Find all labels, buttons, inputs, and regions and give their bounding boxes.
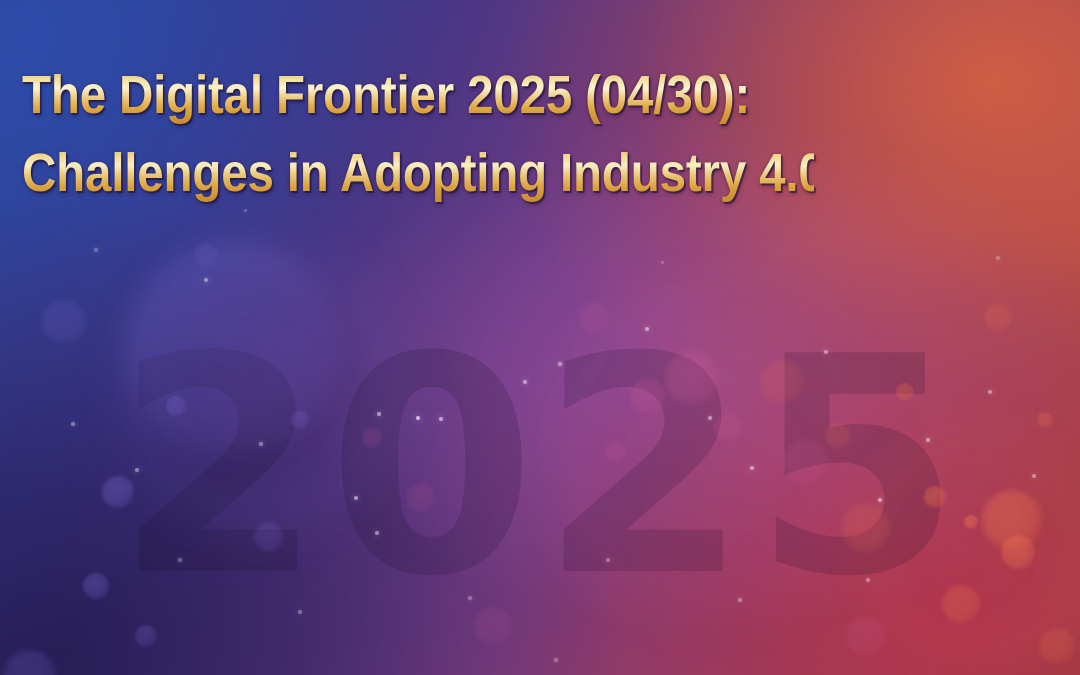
bokeh-circle-cool: [194, 244, 218, 268]
bokeh-circle-warm: [982, 490, 1042, 550]
bokeh-spark: [94, 248, 97, 251]
bokeh-ring: [548, 288, 880, 620]
bokeh-spark: [558, 362, 561, 365]
bokeh-spark: [377, 412, 381, 416]
bokeh-spark: [824, 350, 828, 354]
bokeh-spark: [354, 496, 358, 500]
bokeh-spark: [178, 558, 181, 561]
bokeh-spark: [135, 468, 138, 471]
bokeh-circle-warm: [924, 486, 946, 508]
bokeh-ring: [860, 428, 1080, 664]
bokeh-circle-pink: [605, 441, 627, 463]
bokeh-circle-pink: [578, 302, 610, 334]
bokeh-circle-warm: [984, 304, 1012, 332]
slide-title-line-2: Challenges in Adopting Industry 4.0: [22, 134, 814, 212]
bokeh-spark: [606, 558, 610, 562]
bokeh-circle-warm: [1039, 628, 1075, 664]
bokeh-spark: [1032, 474, 1036, 478]
bokeh-circle-cool: [4, 650, 56, 675]
bokeh-circle-pink: [474, 607, 512, 645]
bokeh-circle-warm: [760, 360, 804, 404]
bokeh-circle-pink: [362, 428, 382, 448]
bokeh-spark: [259, 442, 262, 445]
bokeh-circle-warm: [842, 504, 890, 552]
bokeh-spark: [708, 416, 711, 419]
bokeh-circle-pink: [846, 616, 886, 656]
bokeh-spark: [375, 531, 379, 535]
slide-title-line-1: The Digital Frontier 2025 (04/30):: [22, 56, 814, 134]
bokeh-spark: [523, 380, 527, 384]
bokeh-spark: [298, 610, 301, 613]
bokeh-circle-pink: [714, 414, 742, 442]
bokeh-spark: [645, 327, 649, 331]
bokeh-circle-cool: [124, 240, 340, 456]
bokeh-spark: [988, 390, 992, 394]
bokeh-circle-cool: [166, 396, 186, 416]
bokeh-circle-cool: [83, 573, 109, 599]
presentation-slide: 2025 The Digital Frontier 2025 (04/30): …: [0, 0, 1080, 675]
bokeh-circle-warm: [825, 423, 851, 449]
bokeh-circle-pink: [630, 378, 666, 414]
bokeh-spark: [878, 498, 882, 502]
slide-title-block: The Digital Frontier 2025 (04/30): Chall…: [22, 56, 922, 212]
bokeh-spark: [204, 278, 208, 282]
bokeh-spark: [416, 416, 421, 421]
bokeh-spark: [738, 598, 741, 601]
bokeh-spark: [468, 596, 471, 599]
bokeh-ring: [120, 244, 404, 528]
bokeh-spark: [996, 256, 999, 259]
bokeh-spark: [71, 422, 75, 426]
bokeh-spark: [750, 466, 754, 470]
bokeh-circle-warm: [1001, 535, 1035, 569]
bokeh-circle-warm: [964, 515, 978, 529]
bokeh-circle-cool: [135, 625, 157, 647]
bokeh-circle-cool: [102, 476, 134, 508]
bokeh-circle-pink: [406, 483, 436, 513]
bokeh-circle-warm: [1037, 412, 1053, 428]
bokeh-spark: [866, 578, 870, 582]
bokeh-circle-warm: [942, 585, 980, 623]
bokeh-circle-cool: [42, 300, 86, 344]
bokeh-spark: [926, 438, 929, 441]
bokeh-circle-pink: [665, 351, 719, 405]
bokeh-circle-cool: [254, 522, 284, 552]
bokeh-circle-warm: [896, 383, 914, 401]
bokeh-circle-pink: [783, 439, 829, 485]
bokeh-circle-cool: [291, 411, 309, 429]
bokeh-spark: [554, 658, 557, 661]
bokeh-spark: [439, 417, 443, 421]
year-watermark: 2025: [0, 318, 1080, 618]
bokeh-spark: [661, 261, 664, 264]
